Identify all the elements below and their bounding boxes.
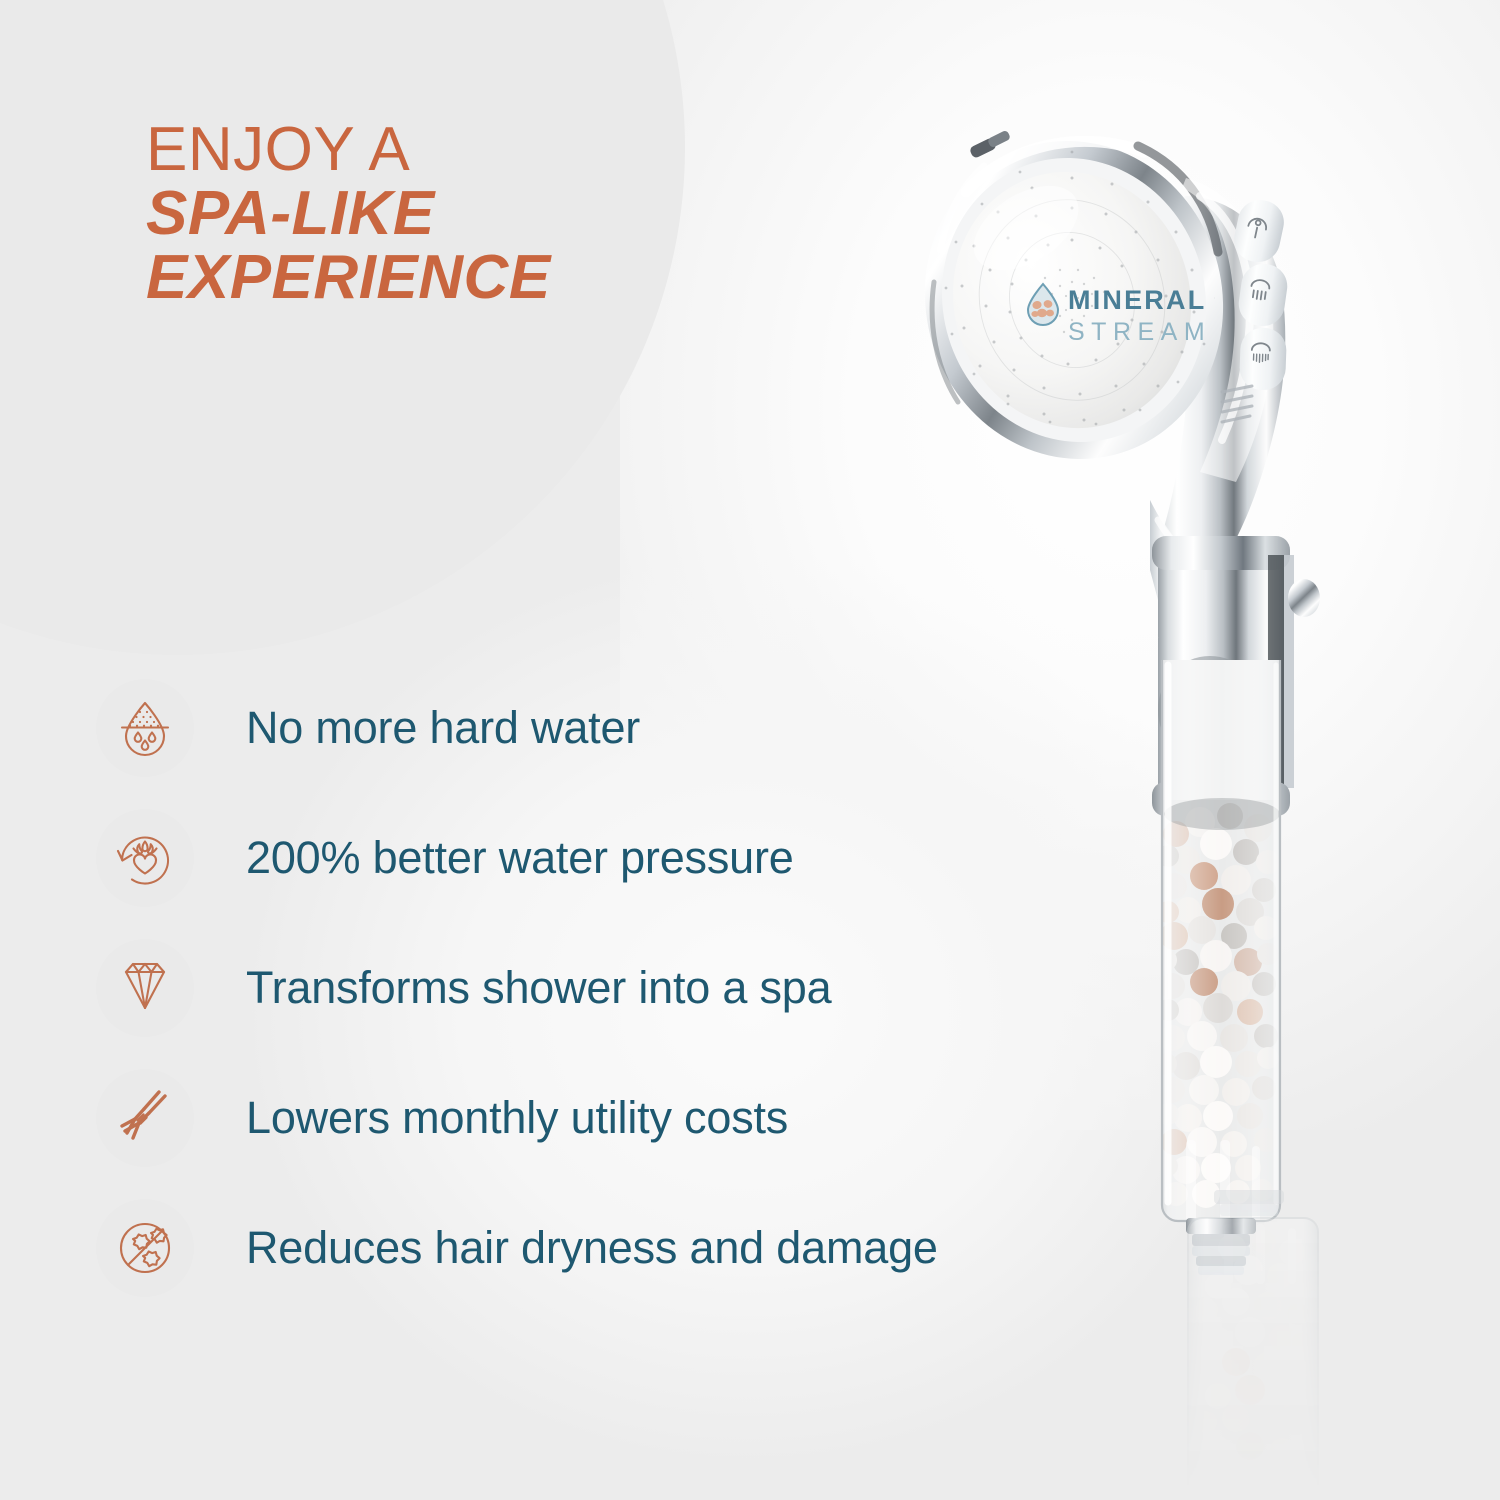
lotus-heart-refresh-icon [96,809,194,907]
side-knob [1288,579,1320,617]
feature-label: 200% better water pressure [246,831,794,884]
shower-head-assembly: MINERAL STREAM [900,104,1290,570]
hose-thread-connector [1186,1218,1256,1275]
headline: ENJOY A SPA-LIKE EXPERIENCE [146,118,766,310]
headline-line-3: EXPERIENCE [146,246,766,310]
feature-label: No more hard water [246,701,640,754]
feature-label: Lowers monthly utility costs [246,1091,788,1144]
split-end-hair-icon [96,1069,194,1167]
feature-label: Transforms shower into a spa [246,961,831,1014]
no-germs-icon [96,1199,194,1297]
product-image-shower-head: MINERAL STREAM [900,100,1370,1500]
hard-water-droplet-icon [96,679,194,777]
feature-label: Reduces hair dryness and damage [246,1221,938,1274]
brand-name-primary: MINERAL [1068,285,1206,315]
corner-circle-shape [0,0,685,655]
diamond-icon [96,939,194,1037]
headline-line-1: ENJOY A [146,118,766,182]
brand-name-secondary: STREAM [1068,318,1211,346]
mineral-bead-filter-chamber [1155,655,1288,1230]
headline-line-2: SPA-LIKE [146,182,766,246]
infographic-canvas: ENJOY A SPA-LIKE EXPERIENCE [0,0,1500,1500]
